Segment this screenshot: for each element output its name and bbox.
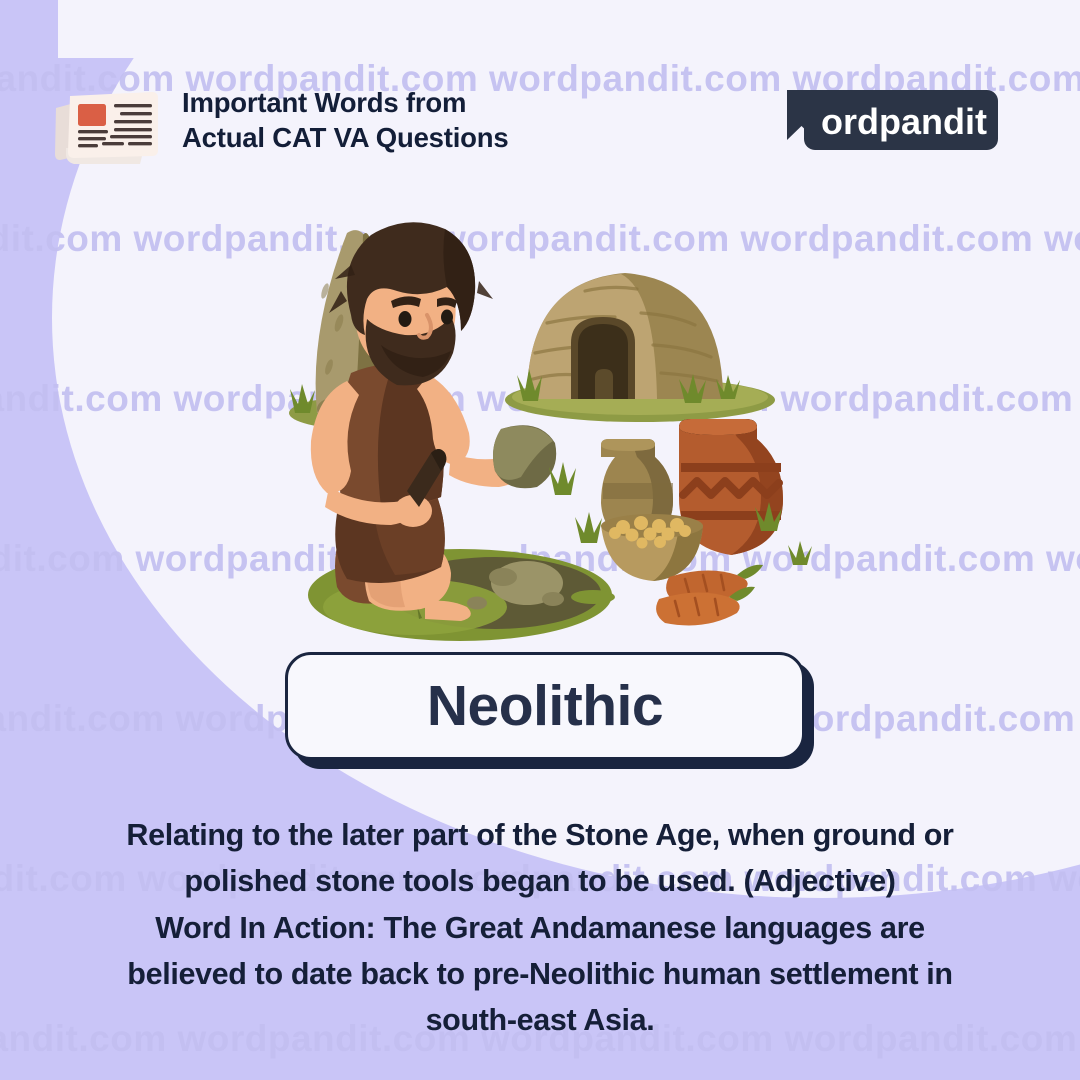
- header: Important Words from Actual CAT VA Quest…: [48, 78, 508, 164]
- wordpandit-logo[interactable]: ordpandit: [776, 84, 1002, 156]
- definition-line-2: polished stone tools began to be used. (…: [30, 858, 1050, 904]
- header-title-line-2: Actual CAT VA Questions: [182, 121, 508, 156]
- neolithic-scene-illustration: [255, 195, 825, 670]
- definition-line-3: Word In Action: The Great Andamanese lan…: [30, 905, 1050, 951]
- background-top-strip-corner: [0, 0, 58, 58]
- header-title-line-1: Important Words from: [182, 86, 508, 121]
- definition-line-5: south-east Asia.: [30, 997, 1050, 1043]
- definition-block: Relating to the later part of the Stone …: [30, 812, 1050, 1044]
- stone-tool-held: [493, 425, 556, 488]
- definition-line-1: Relating to the later part of the Stone …: [30, 812, 1050, 858]
- page-title: Important Words from Actual CAT VA Quest…: [182, 86, 508, 155]
- logo-text: ordpandit: [821, 101, 987, 142]
- grain-bowl: [601, 514, 703, 581]
- newspaper-icon: [48, 78, 166, 164]
- word-card[interactable]: Neolithic: [285, 652, 805, 760]
- word-card-body[interactable]: Neolithic: [285, 652, 805, 760]
- definition-line-4: believed to date back to pre-Neolithic h…: [30, 951, 1050, 997]
- word-title: Neolithic: [427, 673, 663, 739]
